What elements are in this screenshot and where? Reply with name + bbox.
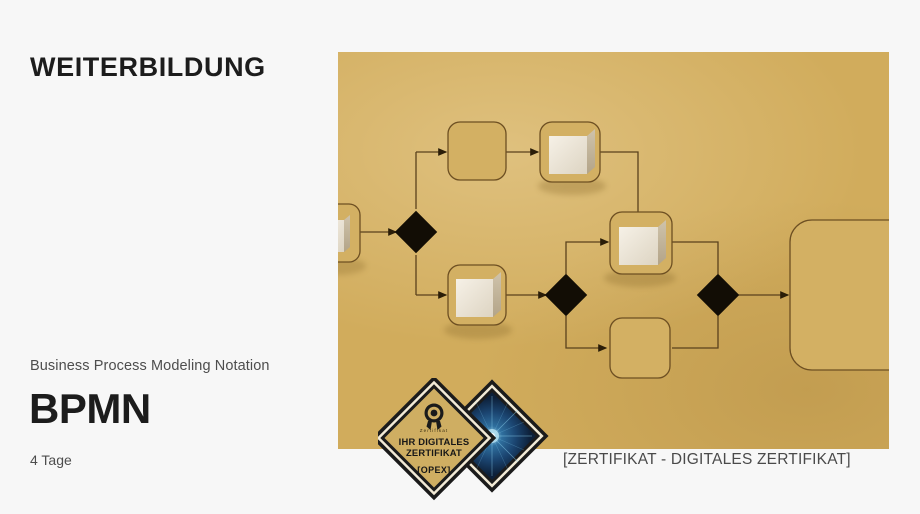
task-right-large (790, 220, 889, 370)
task-top-empty (448, 122, 506, 180)
gateway-merge (697, 274, 739, 316)
slide-root: WEITERBILDUNG Business Process Modeling … (0, 0, 920, 514)
left-text-column: WEITERBILDUNG Business Process Modeling … (0, 0, 338, 514)
badge-footer: [OPEX] (417, 465, 450, 475)
badge-line-1: IHR DIGITALES (399, 436, 470, 447)
gateway-split-1 (395, 211, 437, 253)
certificate-badge-group: Zertifikat IHR DIGITALES ZERTIFIKAT [OPE… (378, 378, 558, 503)
page-title: BPMN (29, 388, 151, 430)
gateway-split-2 (545, 274, 587, 316)
course-duration: 4 Tage (30, 452, 72, 468)
course-subtitle: Business Process Modeling Notation (30, 358, 270, 374)
badge-line-2: ZERTIFIKAT (406, 447, 462, 458)
task-top-cube (538, 122, 606, 195)
panel-caption: [ZERTIFIKAT - DIGITALES ZERTIFIKAT] (563, 451, 851, 469)
task-left-clipped (338, 204, 366, 275)
task-lower-empty (610, 318, 670, 378)
task-bottom-cube (444, 265, 512, 339)
task-middle-cube (604, 212, 676, 287)
page-kicker: WEITERBILDUNG (30, 52, 266, 83)
badge-eyebrow: Zertifikat (420, 428, 449, 433)
